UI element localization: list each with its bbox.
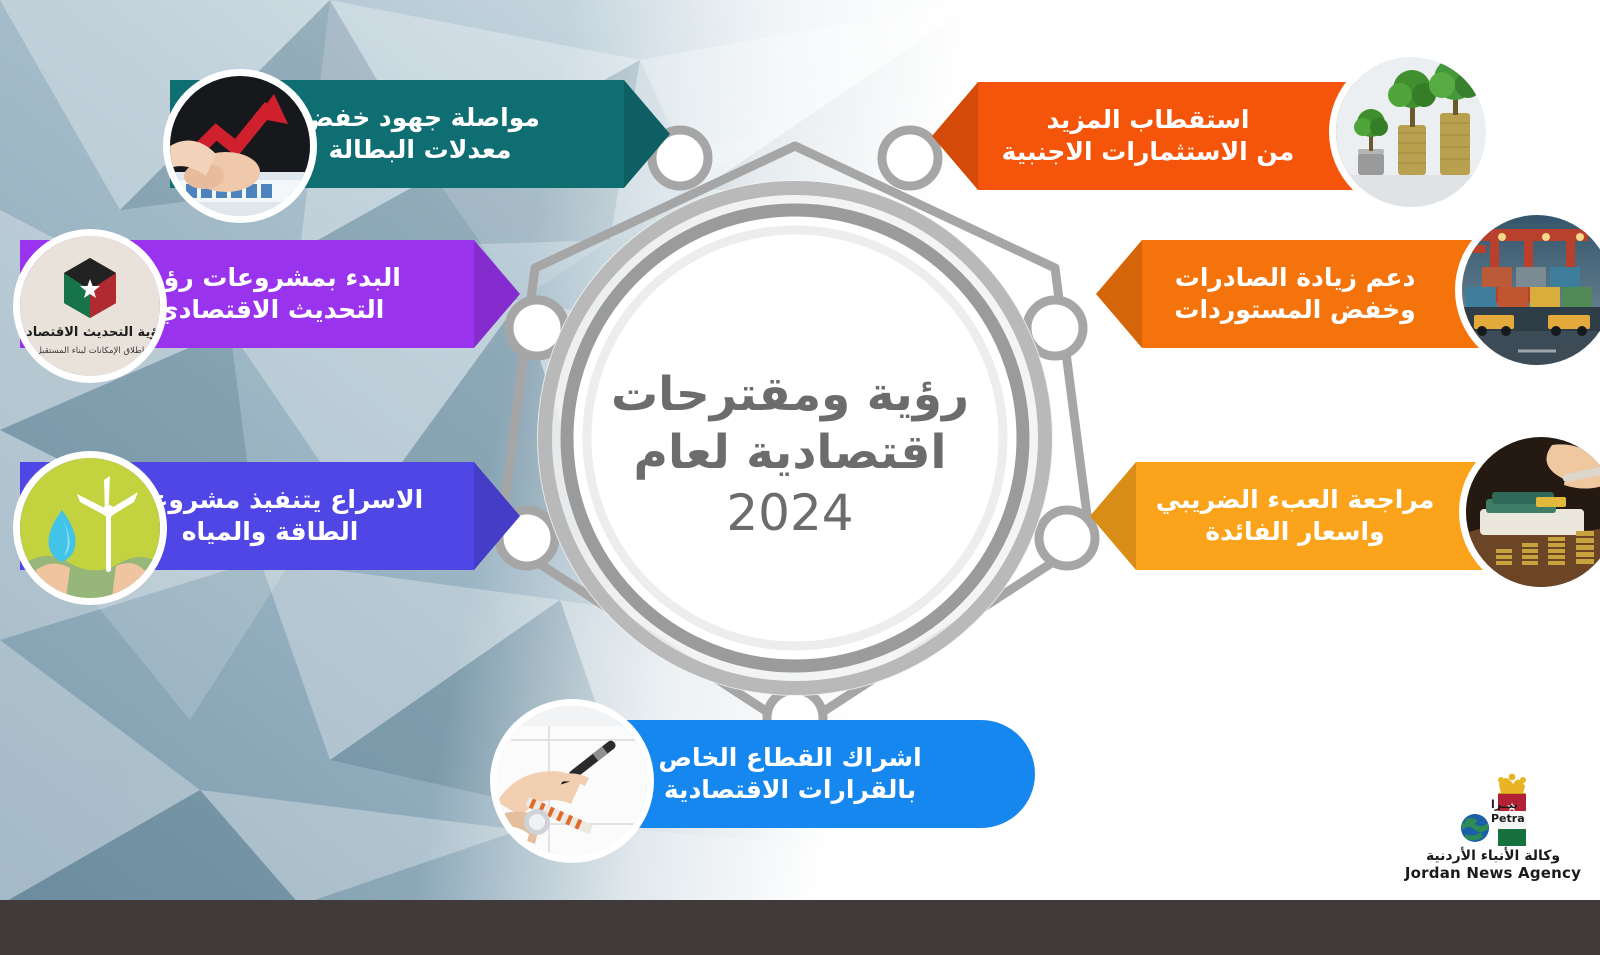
svg-text:رؤية التحديث الاقتصادي: رؤية التحديث الاقتصادي: [20, 325, 160, 340]
svg-text:Petra: Petra: [1491, 812, 1525, 825]
banner-tax-interest[interactable]: مراجعة العبء الضريبي واسعار الفائدة: [1090, 462, 1500, 570]
banner-exports-imports-line2: وخفض المستوردات: [1160, 294, 1429, 327]
banner-modernisation-vision-line2: التحديث الاقتصادي: [125, 294, 415, 327]
economic-modernisation-vision-logo-icon: رؤية التحديث الاقتصادي إطلاق الإمكانات ل…: [20, 236, 160, 376]
banner-unemployment[interactable]: مواصلة جهود خفض معدلات البطالة: [170, 80, 670, 188]
banner-tip-icon: [1096, 240, 1142, 348]
banner-tax-interest-line1: مراجعة العبء الضريبي: [1142, 484, 1449, 517]
banner-energy-water[interactable]: الاسراع يتنفيذ مشروعات الطاقة والمياه: [20, 462, 520, 570]
banner-tip-icon: [474, 240, 520, 348]
footer-bar: [0, 900, 1600, 955]
port-cranes-containers-icon: [1462, 215, 1600, 365]
banner-exports-imports-body[interactable]: دعم زيادة الصادرات وخفض المستوردات: [1096, 240, 1494, 348]
banner-foreign-investment-line2: من الاستثمارات الاجنبية: [988, 136, 1309, 169]
banner-tip-icon: [624, 80, 670, 188]
banner-foreign-investment-body[interactable]: استقطاب المزيد من الاستثمارات الاجنبية: [932, 82, 1364, 190]
banner-unemployment-line1: مواصلة جهود خفض: [286, 102, 554, 135]
banner-exports-imports-line1: دعم زيادة الصادرات: [1160, 262, 1429, 295]
center-wheel-diagram: [455, 118, 1135, 758]
banner-tip-icon: [1090, 462, 1136, 570]
banner-exports-imports[interactable]: دعم زيادة الصادرات وخفض المستوردات: [1096, 240, 1494, 348]
banner-tax-interest-line2: واسعار الفائدة: [1142, 516, 1449, 549]
banner-tax-interest-body[interactable]: مراجعة العبء الضريبي واسعار الفائدة: [1090, 462, 1500, 570]
banner-tip-icon: [932, 82, 978, 190]
svg-text:بتــرا: بتــرا: [1491, 798, 1518, 811]
banner-modernisation-vision-line1: البدء بمشروعات رؤية: [125, 262, 415, 295]
jordan-news-agency-logo: بتــرا Petra وكالة الأنباء الأردنية Jord…: [1398, 772, 1588, 887]
banner-foreign-investment-line1: استقطاب المزيد: [988, 104, 1309, 137]
red-arrow-growth-chart-icon: [170, 76, 310, 216]
svg-text:إطلاق الإمكانات لبناء المستقبل: إطلاق الإمكانات لبناء المستقبل: [36, 346, 145, 356]
banner-unemployment-line2: معدلات البطالة: [286, 134, 554, 167]
banner-private-sector-line1: اشراك القطاع الخاص: [644, 742, 935, 775]
agency-name-arabic: وكالة الأنباء الأردنية: [1426, 848, 1560, 864]
wind-turbine-water-drop-icon: [20, 458, 160, 598]
hand-writing-pen-icon: [497, 706, 647, 856]
banner-private-sector[interactable]: اشراك القطاع الخاص بالقرارات الاقتصادية: [545, 720, 1035, 828]
banner-modernisation-vision[interactable]: البدء بمشروعات رؤية التحديث الاقتصادي رؤ…: [20, 240, 520, 348]
banner-private-sector-line2: بالقرارات الاقتصادية: [644, 774, 935, 807]
petra-globe-flag-icon: بتــرا Petra: [1433, 772, 1553, 846]
banner-foreign-investment[interactable]: استقطاب المزيد من الاستثمارات الاجنبية: [932, 82, 1364, 190]
infographic-canvas: رؤية ومقترحات اقتصادية لعام 2024 مواصلة …: [0, 0, 1600, 955]
coins-trees-growth-icon: [1336, 57, 1486, 207]
agency-name-english: Jordan News Agency: [1405, 864, 1581, 882]
banner-tip-icon: [474, 462, 520, 570]
